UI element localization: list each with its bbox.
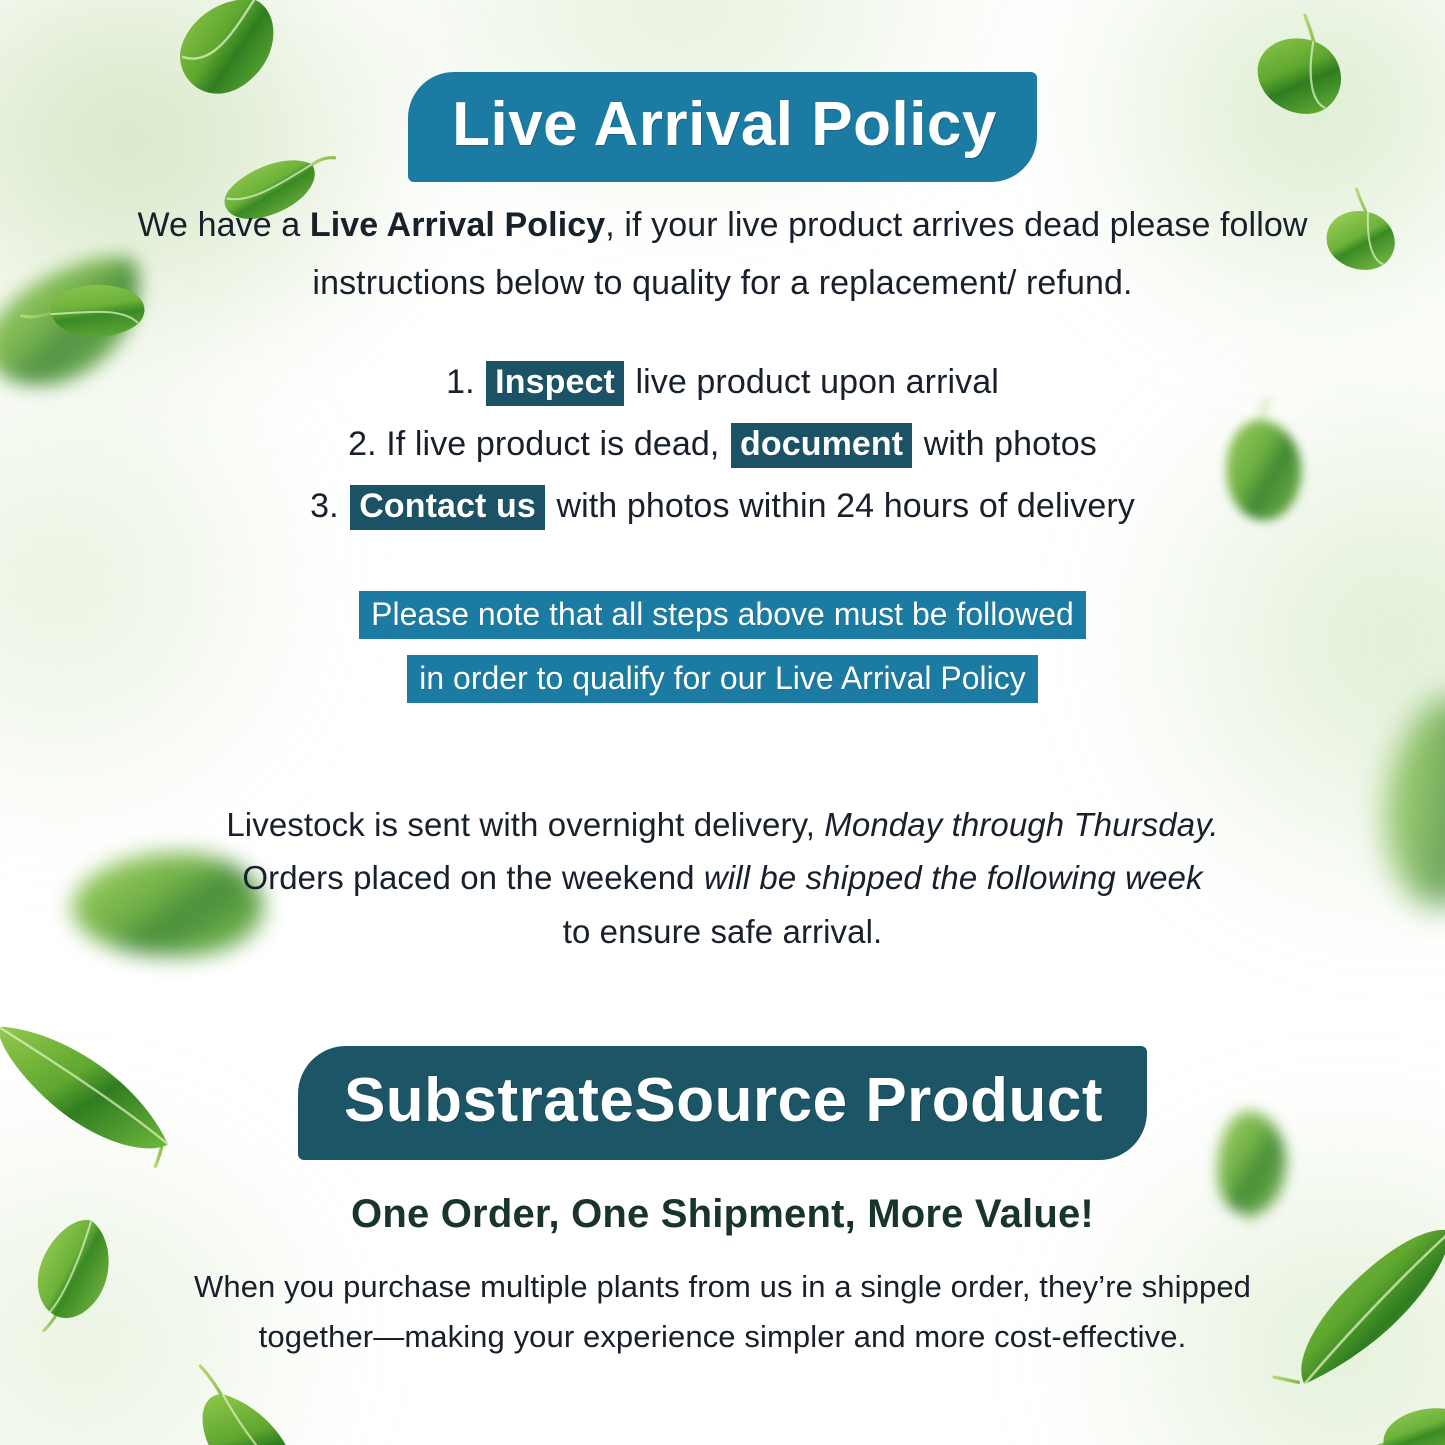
product-closing-line-1: When you purchase multiple plants from u… — [0, 1262, 1445, 1312]
substratesource-product-banner-title: SubstrateSource Product — [298, 1046, 1147, 1160]
policy-lead-line-1-pre: We have a — [137, 206, 309, 244]
shipping-line-2: Orders placed on the weekend will be shi… — [0, 851, 1445, 904]
shipping-line-1-italic: Monday through Thursday. — [824, 806, 1218, 843]
policy-steps-list: 1. Inspect live product upon arrival 2. … — [0, 352, 1445, 538]
shipping-line-2-plain: Orders placed on the weekend — [242, 859, 704, 896]
policy-step-2: 2. If live product is dead, document wit… — [0, 414, 1445, 476]
policy-note-line-1-wrap: Please note that all steps above must be… — [0, 582, 1445, 646]
content-layer: Live Arrival Policy We have a Live Arriv… — [0, 0, 1445, 1445]
shipping-line-1: Livestock is sent with overnight deliver… — [0, 798, 1445, 851]
policy-step-1: 1. Inspect live product upon arrival — [0, 352, 1445, 414]
policy-lead-line-1-post: , if your live product arrives dead plea… — [605, 206, 1307, 244]
policy-step-3-pre — [339, 487, 349, 525]
policy-step-2-pre: If live product is dead, — [377, 425, 729, 463]
substratesource-product-banner-wrap: SubstrateSource Product — [0, 1046, 1445, 1160]
live-arrival-policy-banner-wrap: Live Arrival Policy — [0, 72, 1445, 182]
live-arrival-policy-banner-title: Live Arrival Policy — [408, 72, 1037, 182]
policy-lead-line-1-bold: Live Arrival Policy — [310, 206, 605, 244]
policy-lead-paragraph: We have a Live Arrival Policy, if your l… — [0, 196, 1445, 313]
policy-step-2-post: with photos — [914, 425, 1097, 463]
policy-note-line-1: Please note that all steps above must be… — [359, 591, 1086, 639]
policy-step-3-chip[interactable]: Contact us — [350, 485, 545, 530]
shipping-line-2-italic: will be shipped the following week — [704, 859, 1203, 896]
policy-lead-line-2: instructions below to quality for a repl… — [0, 254, 1445, 312]
policy-step-1-post: live product upon arrival — [626, 363, 999, 401]
policy-note-line-2: in order to qualify for our Live Arrival… — [407, 655, 1037, 703]
policy-step-1-number: 1. — [446, 363, 475, 401]
shipping-line-1-plain: Livestock is sent with overnight deliver… — [226, 806, 824, 843]
shipping-schedule-paragraph: Livestock is sent with overnight deliver… — [0, 798, 1445, 958]
live-arrival-policy-graphic: Live Arrival Policy We have a Live Arriv… — [0, 0, 1445, 1445]
policy-step-3: 3. Contact us with photos within 24 hour… — [0, 476, 1445, 538]
policy-note-line-2-wrap: in order to qualify for our Live Arrival… — [0, 646, 1445, 710]
policy-note-block: Please note that all steps above must be… — [0, 582, 1445, 710]
product-closing-paragraph: When you purchase multiple plants from u… — [0, 1262, 1445, 1362]
policy-step-2-chip[interactable]: document — [731, 423, 912, 468]
product-closing-line-2: together—making your experience simpler … — [0, 1312, 1445, 1362]
policy-lead-line-1: We have a Live Arrival Policy, if your l… — [0, 196, 1445, 254]
policy-step-2-number: 2. — [348, 425, 377, 463]
policy-step-3-number: 3. — [310, 487, 339, 525]
product-value-subheading: One Order, One Shipment, More Value! — [0, 1192, 1445, 1237]
shipping-line-3: to ensure safe arrival. — [0, 905, 1445, 958]
policy-step-1-chip[interactable]: Inspect — [486, 361, 624, 406]
policy-step-3-post: with photos within 24 hours of delivery — [547, 487, 1135, 525]
